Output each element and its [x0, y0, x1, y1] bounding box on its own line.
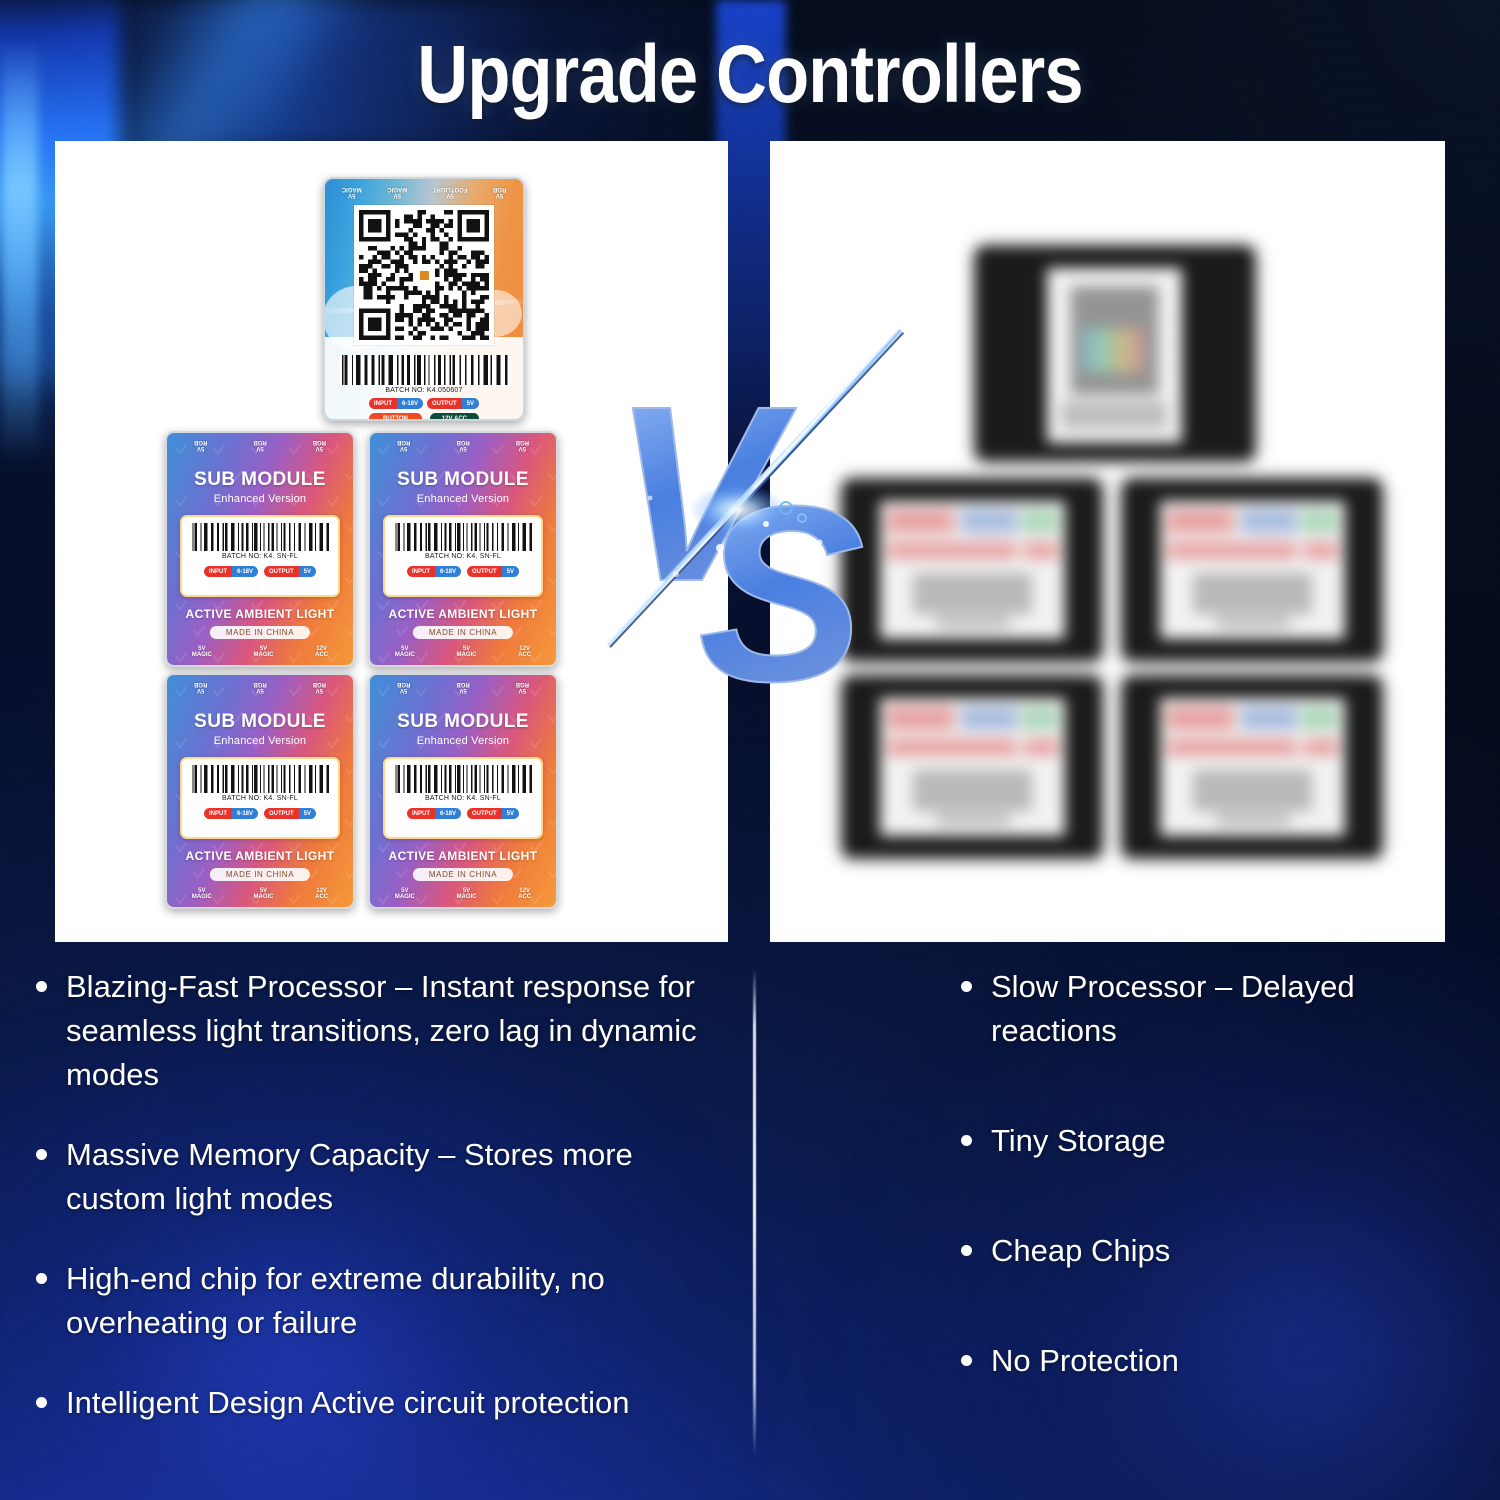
edge-volt: 5V	[446, 192, 453, 198]
edge-volt: 12V	[519, 888, 530, 894]
edge-label: 5VMAGIC	[395, 646, 415, 659]
sub-module-subtitle: Enhanced Version	[167, 735, 353, 747]
sub-module-top-edge: 5VRGB 5VRGB 5VRGB	[171, 679, 349, 695]
barcode	[190, 523, 330, 551]
input-pill-value: 6-18V	[435, 808, 461, 819]
batch-number: BATCH NO: K4.050607	[325, 387, 523, 394]
sub-module-label-plate: BATCH NO: K4. SN-FL INPUT 6-18V OUTPUT 5…	[180, 515, 340, 597]
edge-name: RGB	[313, 681, 326, 687]
edge-volt: 12V	[316, 888, 327, 894]
sub-module-footer: ACTIVE AMBIENT LIGHT	[167, 849, 353, 863]
edge-name: FOOTLIGHT	[433, 186, 468, 192]
main-module-pill-row-2: BUTTON 12V ACC	[325, 413, 523, 421]
edge-name: ACC	[518, 894, 531, 900]
edge-label: 5VRGB	[253, 439, 266, 452]
output-pill-value: 5V	[502, 808, 519, 819]
edge-name: ACC	[315, 894, 328, 900]
edge-name: RGB	[397, 681, 410, 687]
edge-name: RGB	[194, 439, 207, 445]
edge-label: 5V FOOTLIGHT	[433, 186, 468, 199]
list-item: Blazing-Fast Processor – Instant respons…	[30, 965, 720, 1097]
barcode	[393, 765, 533, 793]
output-pill: OUTPUT 5V	[427, 398, 479, 409]
edge-volt: 5V	[496, 192, 503, 198]
sub-module-pill-row: INPUT 6-18V OUTPUT 5V	[385, 566, 541, 577]
edge-name: MAGIC	[395, 652, 415, 658]
edge-name: RGB	[194, 681, 207, 687]
edge-label: 5VMAGIC	[395, 888, 415, 901]
sub-module-footer: ACTIVE AMBIENT LIGHT	[370, 607, 556, 621]
edge-volt: 5V	[459, 687, 466, 693]
sub-module-title: SUB MODULE	[167, 711, 353, 733]
edge-label: 5VRGB	[194, 681, 207, 694]
edge-name: RGB	[493, 186, 506, 192]
competitor-module-label	[1160, 698, 1345, 836]
edge-volt: 5V	[348, 192, 355, 198]
made-in-badge: MADE IN CHINA	[413, 626, 513, 639]
edge-volt: 5V	[256, 687, 263, 693]
list-item: No Protection	[955, 1339, 1455, 1383]
edge-label: 12VACC	[518, 888, 531, 901]
edge-label: 5VMAGIC	[192, 888, 212, 901]
edge-label: 5VRGB	[456, 439, 469, 452]
button-pill: BUTTON	[369, 413, 422, 421]
edge-name: RGB	[516, 439, 529, 445]
input-pill-key: INPUT	[407, 808, 435, 819]
edge-label: 5VMAGIC	[456, 646, 476, 659]
acc-pill-key: 12V ACC	[430, 413, 479, 421]
made-in-badge: MADE IN CHINA	[413, 868, 513, 881]
output-pill-key: OUTPUT	[264, 566, 299, 577]
edge-label: 12VACC	[518, 646, 531, 659]
input-pill: INPUT 6-18V	[204, 808, 258, 819]
edge-name: MAGIC	[456, 652, 476, 658]
barcode	[339, 355, 509, 385]
sub-module-title: SUB MODULE	[370, 711, 556, 733]
batch-number: BATCH NO: K4. SN-FL	[385, 553, 541, 560]
batch-number: BATCH NO: K4. SN-FL	[385, 795, 541, 802]
batch-number: BATCH NO: K4. SN-FL	[182, 795, 338, 802]
list-item: Tiny Storage	[955, 1119, 1455, 1163]
competitor-module-label	[880, 501, 1065, 639]
input-pill-key: INPUT	[204, 808, 232, 819]
sub-module-footer: ACTIVE AMBIENT LIGHT	[370, 849, 556, 863]
edge-name: RGB	[456, 681, 469, 687]
sub-module-subtitle: Enhanced Version	[370, 735, 556, 747]
competitor-module-label	[1160, 501, 1345, 639]
edge-name: RGB	[516, 681, 529, 687]
edge-label: 5V RGB	[493, 186, 506, 199]
edge-volt: 5V	[316, 445, 323, 451]
output-pill-key: OUTPUT	[467, 566, 502, 577]
edge-name: MAGIC	[253, 652, 273, 658]
edge-name: MAGIC	[456, 894, 476, 900]
competitor-sub-module	[842, 479, 1102, 661]
main-controller-module: 5V RGB 5V FOOTLIGHT 5V MAGIC 5V MAGIC	[323, 177, 525, 421]
blurred-modules-group	[770, 141, 1445, 942]
edge-volt: 5V	[260, 646, 267, 652]
sub-module-card: 5VRGB 5VRGB 5VRGB SUB MODULE Enhanced Ve…	[165, 673, 355, 909]
competitor-sub-module	[1122, 479, 1382, 661]
edge-label: 12VACC	[315, 646, 328, 659]
edge-name: MAGIC	[192, 894, 212, 900]
list-item: Massive Memory Capacity – Stores more cu…	[30, 1133, 720, 1221]
edge-label: 5VRGB	[253, 681, 266, 694]
sub-module-label-plate: BATCH NO: K4. SN-FL INPUT 6-18V OUTPUT 5…	[180, 757, 340, 839]
acc-pill: 12V ACC	[430, 413, 479, 421]
input-pill-value: 6-18V	[232, 566, 258, 577]
edge-volt: 12V	[519, 646, 530, 652]
edge-name: MAGIC	[253, 894, 273, 900]
button-pill-key: BUTTON	[369, 413, 422, 421]
qr-code-container	[354, 205, 494, 345]
edge-label: 5V MAGIC	[342, 186, 362, 199]
column-divider	[753, 968, 756, 1456]
sub-module-bottom-edge: 5VMAGIC 5VMAGIC 12VACC	[374, 643, 552, 661]
output-pill-value: 5V	[299, 566, 316, 577]
competitor-qr-color-tint	[1082, 328, 1144, 374]
edge-volt: 5V	[463, 888, 470, 894]
edge-volt: 5V	[198, 646, 205, 652]
edge-volt: 5V	[316, 687, 323, 693]
input-pill-value: 6-18V	[397, 398, 423, 409]
edge-volt: 12V	[316, 646, 327, 652]
edge-volt: 5V	[400, 445, 407, 451]
list-item: Cheap Chips	[955, 1229, 1455, 1273]
competitor-module-label	[880, 698, 1065, 836]
input-pill: INPUT 6-18V	[369, 398, 423, 409]
sub-module-pill-row: INPUT 6-18V OUTPUT 5V	[182, 808, 338, 819]
edge-volt: 5V	[401, 888, 408, 894]
qr-code	[359, 210, 489, 340]
sub-module-top-edge: 5VRGB 5VRGB 5VRGB	[374, 679, 552, 695]
sub-module-footer: ACTIVE AMBIENT LIGHT	[167, 607, 353, 621]
input-pill-value: 6-18V	[435, 566, 461, 577]
edge-name: MAGIC	[395, 894, 415, 900]
sub-module-top-edge: 5VRGB 5VRGB 5VRGB	[171, 437, 349, 453]
edge-name: RGB	[253, 439, 266, 445]
edge-label: 5VRGB	[397, 681, 410, 694]
made-in-badge: MADE IN CHINA	[210, 868, 310, 881]
competitor-module-label	[1047, 268, 1182, 443]
made-in-badge: MADE IN CHINA	[210, 626, 310, 639]
edge-label: 5VMAGIC	[192, 646, 212, 659]
output-pill: OUTPUT 5V	[467, 566, 519, 577]
output-pill: OUTPUT 5V	[467, 808, 519, 819]
sub-module-title: SUB MODULE	[370, 469, 556, 491]
edge-label: 5VRGB	[313, 681, 326, 694]
competitor-sub-module	[1122, 676, 1382, 858]
page-title: Upgrade Controllers	[105, 34, 1395, 116]
edge-label: 5V MAGIC	[387, 186, 407, 199]
main-module-top-edge: 5V RGB 5V FOOTLIGHT 5V MAGIC 5V MAGIC	[329, 183, 519, 201]
edge-label: 5VMAGIC	[253, 646, 273, 659]
competitor-main-module	[975, 246, 1255, 461]
edge-volt: 5V	[256, 445, 263, 451]
output-pill: OUTPUT 5V	[264, 808, 316, 819]
list-item: Intelligent Design Active circuit protec…	[30, 1381, 720, 1425]
sub-module-pill-row: INPUT 6-18V OUTPUT 5V	[385, 808, 541, 819]
sub-module-subtitle: Enhanced Version	[167, 493, 353, 505]
edge-name: RGB	[313, 439, 326, 445]
edge-volt: 5V	[197, 445, 204, 451]
list-item: High-end chip for extreme durability, no…	[30, 1257, 720, 1345]
upgraded-products-panel: 5V RGB 5V FOOTLIGHT 5V MAGIC 5V MAGIC	[55, 141, 728, 942]
input-pill-key: INPUT	[407, 566, 435, 577]
competitor-sub-module	[842, 676, 1102, 858]
edge-label: 5VMAGIC	[253, 888, 273, 901]
edge-volt: 5V	[519, 445, 526, 451]
output-pill-value: 5V	[299, 808, 316, 819]
edge-name: MAGIC	[387, 186, 407, 192]
sub-module-bottom-edge: 5VMAGIC 5VMAGIC 12VACC	[374, 885, 552, 903]
sub-module-card: 5VRGB 5VRGB 5VRGB SUB MODULE Enhanced Ve…	[165, 431, 355, 667]
output-pill-key: OUTPUT	[467, 808, 502, 819]
sub-module-card: 5VRGB 5VRGB 5VRGB SUB MODULE Enhanced Ve…	[368, 431, 558, 667]
edge-volt: 5V	[198, 888, 205, 894]
competitor-barcode	[1063, 401, 1166, 429]
output-pill-key: OUTPUT	[264, 808, 299, 819]
output-pill-value: 5V	[462, 398, 479, 409]
edge-volt: 5V	[260, 888, 267, 894]
edge-name: ACC	[518, 652, 531, 658]
edge-volt: 5V	[197, 687, 204, 693]
edge-name: RGB	[397, 439, 410, 445]
edge-name: RGB	[456, 439, 469, 445]
upgraded-benefits-list: Blazing-Fast Processor – Instant respons…	[30, 965, 720, 1461]
edge-volt: 5V	[459, 445, 466, 451]
edge-volt: 5V	[519, 687, 526, 693]
edge-label: 12VACC	[315, 888, 328, 901]
barcode	[190, 765, 330, 793]
barcode	[393, 523, 533, 551]
edge-label: 5VRGB	[516, 439, 529, 452]
competitor-products-panel	[770, 141, 1445, 942]
qr-center-logo	[414, 265, 434, 285]
edge-label: 5VRGB	[313, 439, 326, 452]
sub-module-bottom-edge: 5VMAGIC 5VMAGIC 12VACC	[171, 885, 349, 903]
infographic-root: Upgrade Controllers 5V RGB 5V FOOTLIGHT …	[0, 0, 1500, 1500]
edge-volt: 5V	[394, 192, 401, 198]
sub-module-subtitle: Enhanced Version	[370, 493, 556, 505]
edge-name: MAGIC	[192, 652, 212, 658]
edge-label: 5VMAGIC	[456, 888, 476, 901]
competitor-drawbacks-list: Slow Processor – Delayed reactions Tiny …	[955, 965, 1455, 1449]
edge-label: 5VRGB	[397, 439, 410, 452]
sub-module-label-plate: BATCH NO: K4. SN-FL INPUT 6-18V OUTPUT 5…	[383, 515, 543, 597]
edge-volt: 5V	[463, 646, 470, 652]
input-pill: INPUT 6-18V	[407, 566, 461, 577]
sub-module-top-edge: 5VRGB 5VRGB 5VRGB	[374, 437, 552, 453]
batch-number: BATCH NO: K4. SN-FL	[182, 553, 338, 560]
sub-module-bottom-edge: 5VMAGIC 5VMAGIC 12VACC	[171, 643, 349, 661]
edge-label: 5VRGB	[456, 681, 469, 694]
input-pill: INPUT 6-18V	[204, 566, 258, 577]
edge-name: MAGIC	[342, 186, 362, 192]
sub-module-card: 5VRGB 5VRGB 5VRGB SUB MODULE Enhanced Ve…	[368, 673, 558, 909]
edge-label: 5VRGB	[194, 439, 207, 452]
edge-volt: 5V	[401, 646, 408, 652]
edge-name: RGB	[253, 681, 266, 687]
output-pill: OUTPUT 5V	[264, 566, 316, 577]
edge-volt: 5V	[400, 687, 407, 693]
output-pill-value: 5V	[502, 566, 519, 577]
output-pill-key: OUTPUT	[427, 398, 462, 409]
input-pill: INPUT 6-18V	[407, 808, 461, 819]
sub-module-title: SUB MODULE	[167, 469, 353, 491]
input-pill-value: 6-18V	[232, 808, 258, 819]
sub-module-pill-row: INPUT 6-18V OUTPUT 5V	[182, 566, 338, 577]
edge-label: 5VRGB	[516, 681, 529, 694]
input-pill-key: INPUT	[204, 566, 232, 577]
sub-module-label-plate: BATCH NO: K4. SN-FL INPUT 6-18V OUTPUT 5…	[383, 757, 543, 839]
edge-name: ACC	[315, 652, 328, 658]
input-pill-key: INPUT	[369, 398, 397, 409]
list-item: Slow Processor – Delayed reactions	[955, 965, 1455, 1053]
main-module-pill-row-1: INPUT 6-18V OUTPUT 5V	[325, 398, 523, 409]
